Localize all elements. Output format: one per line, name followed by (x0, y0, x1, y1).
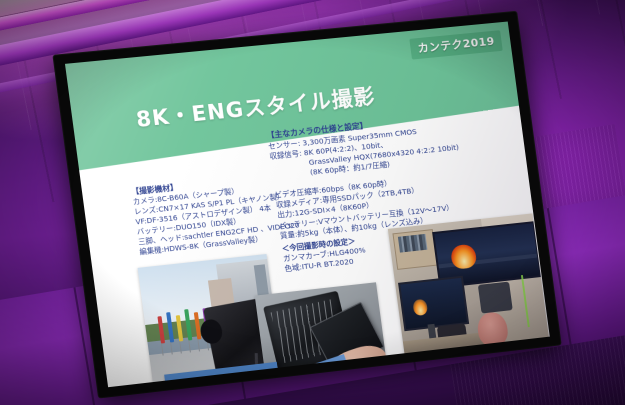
slide-content: カンテク2019 8K・ENGスタイル撮影 【撮影機材】 カメラ:8C-B60A… (65, 22, 550, 388)
shoot-settings-block: ＜今回撮影時の設定＞ ガンマカーブ:HLG400% 色域:ITU-R BT.20… (281, 236, 367, 275)
camera-spec-label: 収録信号: (269, 149, 302, 161)
presentation-room-scene: カンテク2019 8K・ENGスタイル撮影 【撮影機材】 カメラ:8C-B60A… (0, 0, 625, 405)
projection-screen: カンテク2019 8K・ENGスタイル撮影 【撮影機材】 カメラ:8C-B60A… (54, 12, 561, 398)
edit-room-photo (388, 213, 550, 359)
equipment-text-block: 【撮影機材】 カメラ:8C-B60A（シャープ製） レンズ:CN7×17 KAS… (131, 171, 302, 258)
